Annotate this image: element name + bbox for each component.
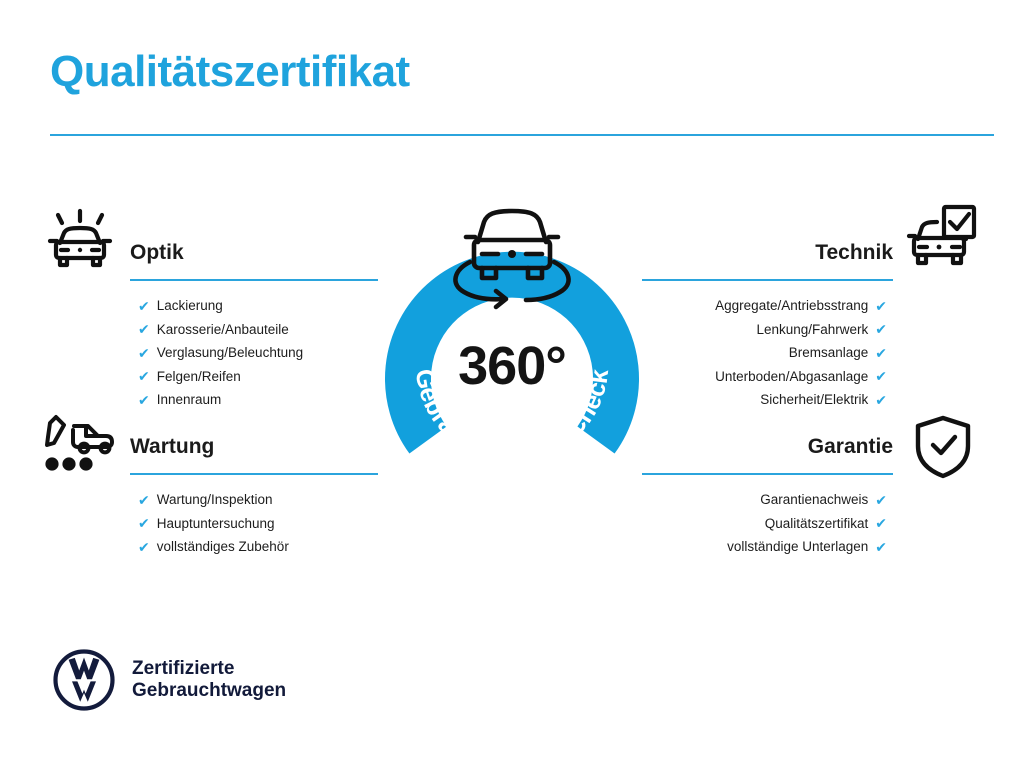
vw-lockup-line1: Zertifizierte [132, 658, 286, 680]
section-divider [642, 473, 893, 475]
list-item: Unterboden/Abgasanlage ✔ [642, 365, 887, 389]
check-icon: ✔ [875, 322, 887, 336]
list-item: ✔ Felgen/Reifen [138, 365, 378, 389]
list-item-label: Sicherheit/Elektrik [760, 388, 868, 412]
list-item-label: Karosserie/Anbauteile [157, 318, 289, 342]
check-icon: ✔ [875, 516, 887, 530]
check-icon: ✔ [875, 369, 887, 383]
list-item: Aggregate/Antriebsstrang ✔ [642, 294, 887, 318]
check-icon: ✔ [138, 346, 150, 360]
list-item: ✔ Karosserie/Anbauteile [138, 318, 378, 342]
certificate-page: Qualitätszertifikat Optik ✔ Lackier [0, 0, 1024, 768]
list-item-label: Lackierung [157, 294, 223, 318]
list-item-label: Innenraum [157, 388, 222, 412]
list-item: ✔ Lackierung [138, 294, 378, 318]
check-icon: ✔ [138, 540, 150, 554]
checklist-technik: Aggregate/Antriebsstrang ✔ Lenkung/Fahrw… [642, 284, 893, 412]
list-item: ✔ Hauptuntersuchung [138, 512, 378, 536]
checklist-garantie: Garantienachweis ✔ Qualitätszertifikat ✔… [642, 478, 893, 559]
list-item: Qualitätszertifikat ✔ [642, 512, 887, 536]
section-header: Optik [130, 238, 378, 284]
list-item-label: vollständige Unterlagen [727, 535, 868, 559]
car-shine-icon [44, 203, 116, 278]
vw-lockup-text: Zertifizierte Gebrauchtwagen [132, 658, 286, 703]
section-garantie: Garantie Garantienachweis ✔ Qualitätszer… [642, 432, 893, 559]
list-item-label: Aggregate/Antriebsstrang [715, 294, 868, 318]
section-title: Garantie [642, 432, 893, 462]
shield-check-icon [912, 414, 974, 485]
list-item-label: Felgen/Reifen [157, 365, 241, 389]
vw-lockup-line2: Gebrauchtwagen [132, 680, 286, 702]
list-item-label: Unterboden/Abgasanlage [715, 365, 868, 389]
list-item-label: Verglasung/Beleuchtung [157, 341, 303, 365]
check-icon: ✔ [138, 393, 150, 407]
list-item: Sicherheit/Elektrik ✔ [642, 388, 887, 412]
list-item: vollständige Unterlagen ✔ [642, 535, 887, 559]
check-icon: ✔ [138, 369, 150, 383]
section-optik: Optik ✔ Lackierung ✔ Karosserie/Anbautei… [130, 238, 378, 412]
check-icon: ✔ [138, 516, 150, 530]
check-icon: ✔ [138, 299, 150, 313]
car-checkbox-icon [906, 203, 978, 274]
title-divider [50, 134, 994, 136]
page-title: Qualitätszertifikat [50, 48, 410, 96]
list-item-label: vollständiges Zubehör [157, 535, 289, 559]
checklist-optik: ✔ Lackierung ✔ Karosserie/Anbauteile ✔ V… [130, 284, 378, 412]
list-item: Bremsanlage ✔ [642, 341, 887, 365]
section-header: Garantie [642, 432, 893, 478]
list-item-label: Hauptuntersuchung [157, 512, 275, 536]
check-icon: ✔ [875, 346, 887, 360]
section-header: Wartung [130, 432, 378, 478]
check-icon: ✔ [875, 493, 887, 507]
list-item-label: Lenkung/Fahrwerk [756, 318, 868, 342]
vw-roundel-logo [52, 648, 116, 712]
list-item: Garantienachweis ✔ [642, 488, 887, 512]
badge-curved-label: Gebrauchtwagen-Check [410, 367, 615, 468]
section-header: Technik [642, 238, 893, 284]
section-wartung: Wartung ✔ Wartung/Inspektion ✔ Hauptunte… [130, 432, 378, 559]
badge-ring: Gebrauchtwagen-Check [372, 196, 652, 496]
section-title: Technik [642, 238, 893, 268]
check-icon: ✔ [138, 322, 150, 336]
section-title: Wartung [130, 432, 378, 462]
check-icon: ✔ [875, 393, 887, 407]
svg-text:Gebrauchtwagen-Check: Gebrauchtwagen-Check [410, 367, 615, 468]
badge-360-check: Gebrauchtwagen-Check 360° [372, 196, 652, 496]
check-icon: ✔ [875, 540, 887, 554]
section-divider [642, 279, 893, 281]
section-title: Optik [130, 238, 378, 268]
list-item: ✔ Wartung/Inspektion [138, 488, 378, 512]
list-item-label: Wartung/Inspektion [157, 488, 273, 512]
check-icon: ✔ [138, 493, 150, 507]
check-icon: ✔ [875, 299, 887, 313]
list-item: Lenkung/Fahrwerk ✔ [642, 318, 887, 342]
vw-certified-lockup: Zertifizierte Gebrauchtwagen [52, 648, 286, 712]
list-item-label: Bremsanlage [789, 341, 869, 365]
section-divider [130, 279, 378, 281]
list-item-label: Qualitätszertifikat [765, 512, 869, 536]
list-item: ✔ vollständiges Zubehör [138, 535, 378, 559]
service-pen-car-icon [42, 414, 118, 477]
checklist-wartung: ✔ Wartung/Inspektion ✔ Hauptuntersuchung… [130, 478, 378, 559]
section-divider [130, 473, 378, 475]
list-item: ✔ Innenraum [138, 388, 378, 412]
list-item-label: Garantienachweis [760, 488, 868, 512]
list-item: ✔ Verglasung/Beleuchtung [138, 341, 378, 365]
section-technik: Technik Aggregate/Antriebsstrang ✔ Lenku… [642, 238, 893, 412]
